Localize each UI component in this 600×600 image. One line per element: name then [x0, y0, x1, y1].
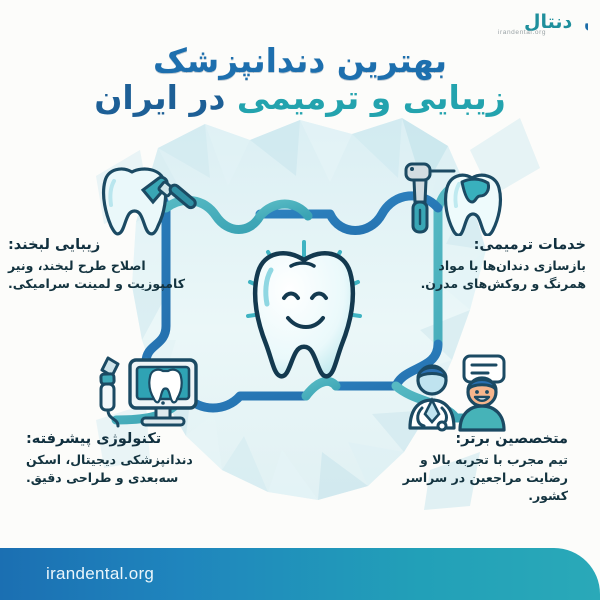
svg-text:ایران: ایران: [584, 11, 588, 33]
footer-bar: irandental.org: [0, 548, 600, 600]
info-block-specialists: متخصصین برتر: تیم مجرب با تجربه بالا و ر…: [380, 430, 568, 506]
tooth-paintbrush-icon: [98, 158, 202, 236]
brand-logo[interactable]: ایران دنتال irandental.org: [456, 6, 588, 48]
icon-restorative: [396, 158, 508, 240]
footer-website-url[interactable]: irandental.org: [46, 564, 154, 584]
intraoral-scanner-monitor-icon: [88, 352, 210, 432]
page-title: بهترین دندانپزشک زیبایی و ترمیمی در ایرا…: [0, 44, 600, 116]
dental-drill-tooth-icon: [396, 158, 508, 236]
title-line-2-navy: در ایران: [94, 78, 225, 117]
info-block-smile-beauty: زیبایی لبخند: اصلاح طرح لبخند، ونیر کامپ…: [8, 236, 196, 293]
infographic-poster: ایران دنتال irandental.org بهترین دندانپ…: [0, 0, 600, 600]
block-title: تکنولوژی پیشرفته:: [26, 430, 214, 448]
title-line-2: زیبایی و ترمیمی در ایران: [0, 81, 600, 116]
block-body: تیم مجرب با تجربه بالا و رضایت مراجعین د…: [380, 451, 568, 505]
title-line-1: بهترین دندانپزشک: [0, 44, 600, 79]
smiling-tooth-mascot-icon: [255, 253, 353, 376]
icon-technology: [88, 352, 210, 436]
info-block-restorative: خدمات ترمیمی: بازسازی دندان‌ها با مواد ه…: [398, 236, 586, 293]
title-line-2-teal: زیبایی و ترمیمی: [237, 78, 506, 117]
block-body: دندانپزشکی دیجیتال، اسکن سه‌بعدی و طراحی…: [26, 451, 214, 487]
block-title: خدمات ترمیمی:: [398, 236, 586, 254]
block-body: اصلاح طرح لبخند، ونیر کامپوزیت و لمینت س…: [8, 257, 196, 293]
block-title: زیبایی لبخند:: [8, 236, 196, 254]
icon-team: [398, 352, 516, 436]
block-body: بازسازی دندان‌ها با مواد همرنگ و روکش‌ها…: [398, 257, 586, 293]
dentist-patient-icon: [398, 352, 516, 432]
icon-smile-beauty: [98, 158, 202, 240]
block-title: متخصصین برتر:: [380, 430, 568, 448]
info-block-technology: تکنولوژی پیشرفته: دندانپزشکی دیجیتال، اس…: [26, 430, 214, 487]
